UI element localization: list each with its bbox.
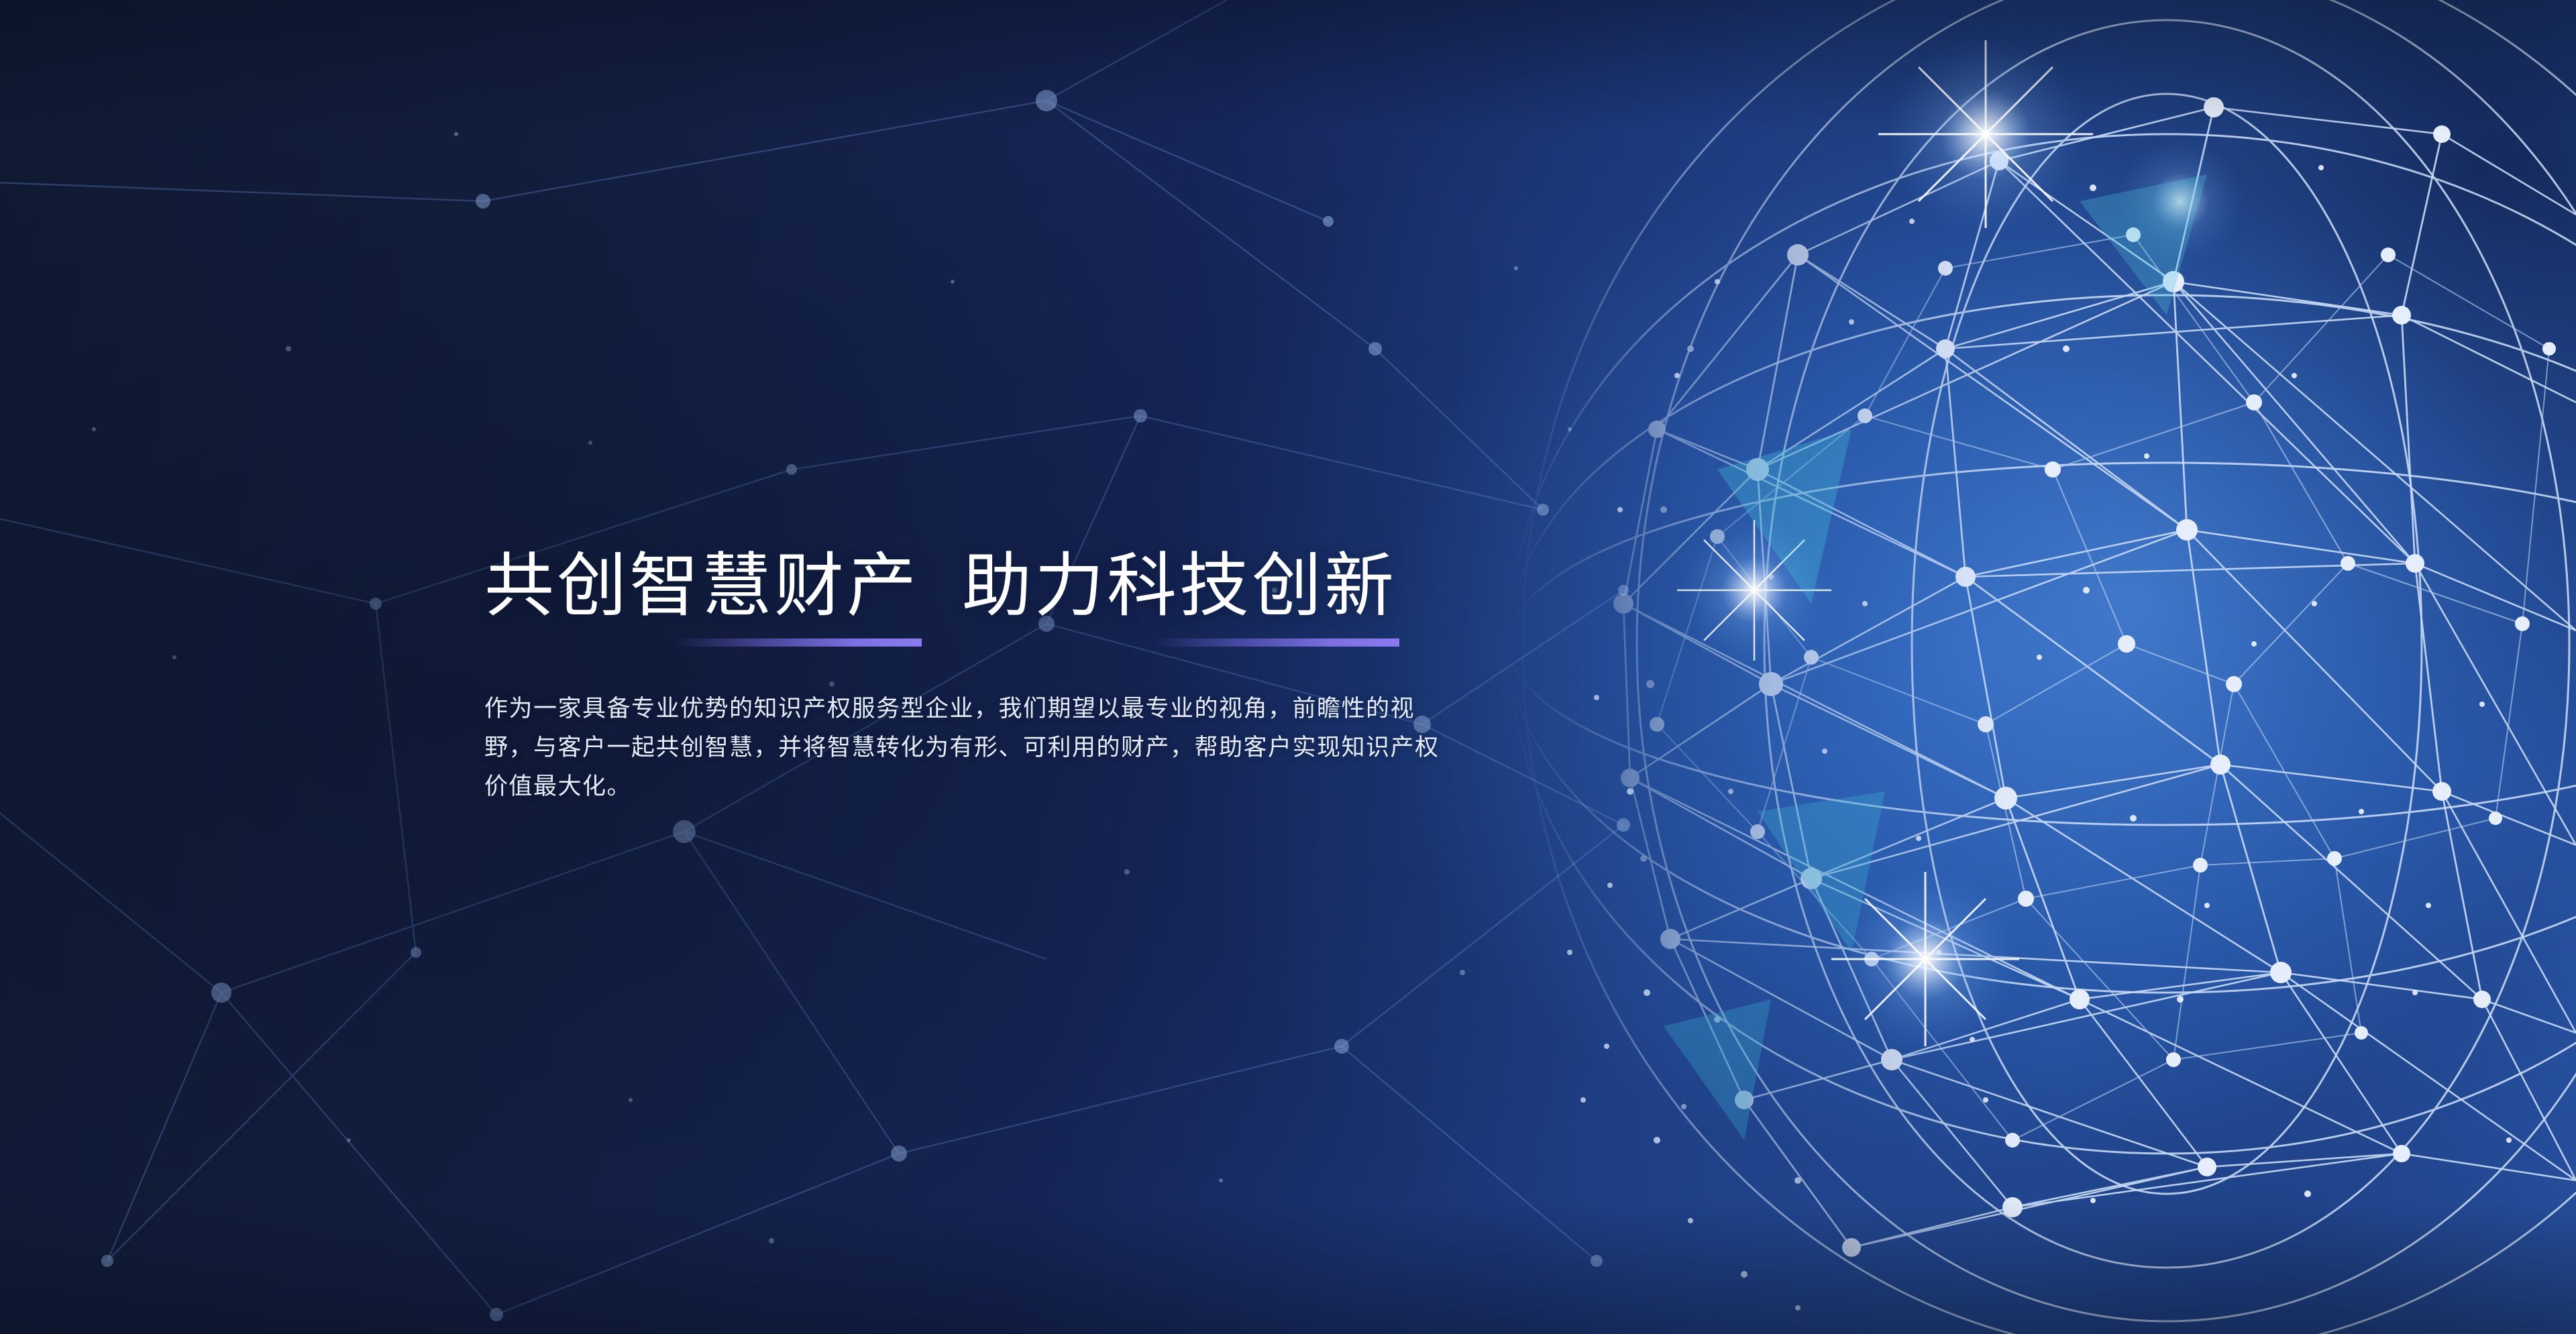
hero-description: 作为一家具备专业优势的知识产权服务型企业，我们期望以最专业的视角，前瞻性的视野，… — [484, 689, 1444, 806]
headline-segment-1: 共创智慧财产 — [484, 549, 919, 624]
headline-segment-2: 助力科技创新 — [962, 549, 1397, 624]
hero-banner: 共创智慧财产助力科技创新 作为一家具备专业优势的知识产权服务型企业，我们期望以最… — [0, 0, 2576, 1334]
hero-content: 共创智慧财产助力科技创新 作为一家具备专业优势的知识产权服务型企业，我们期望以最… — [484, 549, 1457, 806]
page-title: 共创智慧财产助力科技创新 — [484, 549, 1457, 624]
